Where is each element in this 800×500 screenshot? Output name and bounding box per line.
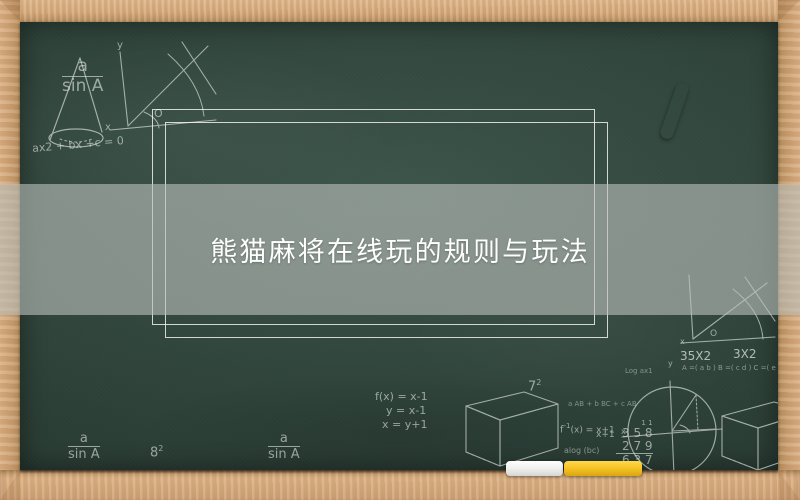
function-y-text: y = x-1 xyxy=(386,404,426,417)
fraction-numerator: a xyxy=(268,432,300,446)
x-plus-one-text: x+1 xyxy=(596,430,615,440)
axis-label-y-circle: y xyxy=(668,359,673,368)
fraction-a-over-sina-bottomleft: a sin A xyxy=(68,432,100,461)
seven-exponent: 2 xyxy=(536,378,541,387)
matrix-row-text: A =( a b ) B =( c d ) C =( e f ) xyxy=(682,364,778,372)
eight-squared-text: 82 xyxy=(150,444,163,460)
seven-squared-text: 72 xyxy=(528,378,541,394)
fraction-denominator: sin A xyxy=(68,446,100,462)
yellow-chalk-ledge[interactable] xyxy=(564,461,642,476)
ledge-shadow xyxy=(20,470,778,474)
log-label-text: Log ax1 xyxy=(625,367,653,375)
multiplication-35x2-text: 35X2 xyxy=(680,349,711,363)
axis-label-y-topleft: y xyxy=(117,40,123,51)
eight-exponent: 2 xyxy=(158,444,163,453)
function-fx-text: f(x) = x-1 xyxy=(375,390,428,403)
fraction-numerator: a xyxy=(68,432,100,446)
frame-corner-bottom-right xyxy=(778,470,800,500)
addition-problem: 1 1 3 5 8 2 7 9 6 3 7 xyxy=(616,420,653,466)
frame-bottom-ledge xyxy=(0,470,800,500)
frame-corner-top-left xyxy=(0,0,20,22)
chalkboard-title-card: a sin A y x O ax2 + bx +c = 0 xyxy=(0,0,800,500)
axis-label-x-topleft: x xyxy=(105,122,111,133)
alog-text: alog (bc) xyxy=(564,446,599,455)
cube-drawing-right-icon xyxy=(718,394,778,470)
fraction-a-over-sina-bottommiddle: a sin A xyxy=(268,432,300,461)
frame-corner-top-right xyxy=(778,0,800,22)
fraction-denominator: sin A xyxy=(268,446,300,462)
page-title: 熊猫麻将在线玩的规则与玩法 xyxy=(0,184,800,315)
function-x-text: x = y+1 xyxy=(382,418,427,431)
inverse-exponent: -1 xyxy=(564,422,571,430)
addition-addend-2: 2 7 9 xyxy=(616,440,653,454)
axis-label-x-topright: x xyxy=(680,337,685,346)
cube-drawing-center-icon xyxy=(460,382,564,470)
angle-label-topright: O xyxy=(710,329,717,339)
frame-corner-bottom-left xyxy=(0,470,20,500)
white-chalk-ledge[interactable] xyxy=(506,461,563,476)
frame-top-rail xyxy=(0,0,800,22)
multiplication-3x2-text: 3X2 xyxy=(733,347,757,361)
